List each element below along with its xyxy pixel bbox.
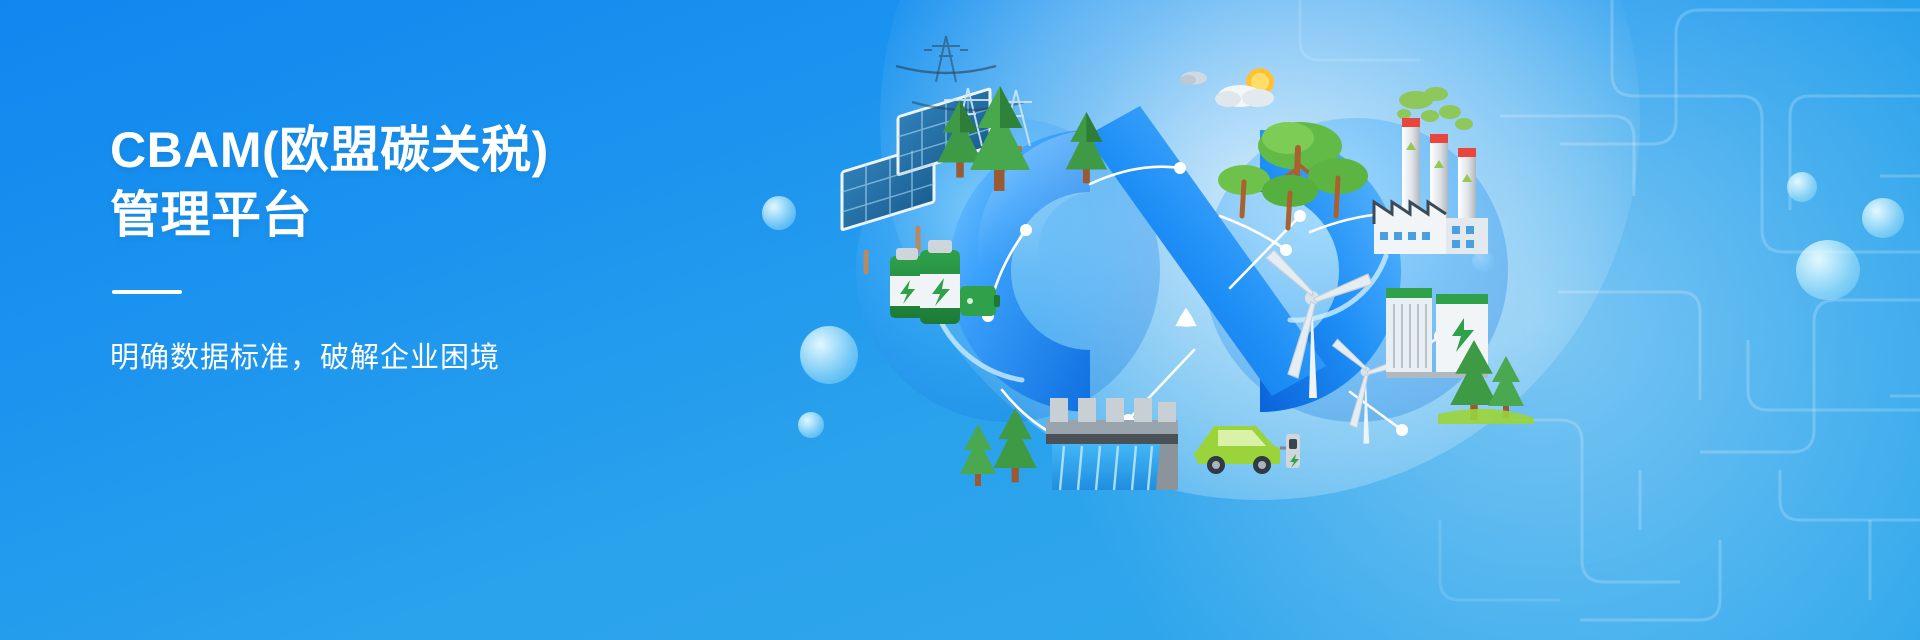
hero-copy: CBAM(欧盟碳关税) 管理平台 明确数据标准，破解企业困境 [110,118,830,379]
bubble-decoration [1862,198,1904,238]
page-subtitle: 明确数据标准，破解企业困境 [110,338,830,379]
recycle-icon [1172,308,1201,333]
pine-tree-icon [960,424,996,486]
page-title-line-2: 管理平台 [110,183,830,248]
title-divider [112,290,182,294]
cbam-hero-banner: CBAM(欧盟碳关税) 管理平台 明确数据标准，破解企业困境 [0,0,1920,640]
hydro-dam-icon [1046,398,1178,490]
hero-illustration [790,20,1550,490]
bubble-decoration [1796,240,1860,300]
page-title: CBAM(欧盟碳关税) 管理平台 [110,118,830,248]
page-title-line-1: CBAM(欧盟碳关税) [110,118,830,183]
pine-tree-icon [1488,356,1524,418]
bubble-decoration [1787,172,1817,202]
electric-car-icon [1194,426,1300,474]
ground-strip [1438,409,1534,424]
